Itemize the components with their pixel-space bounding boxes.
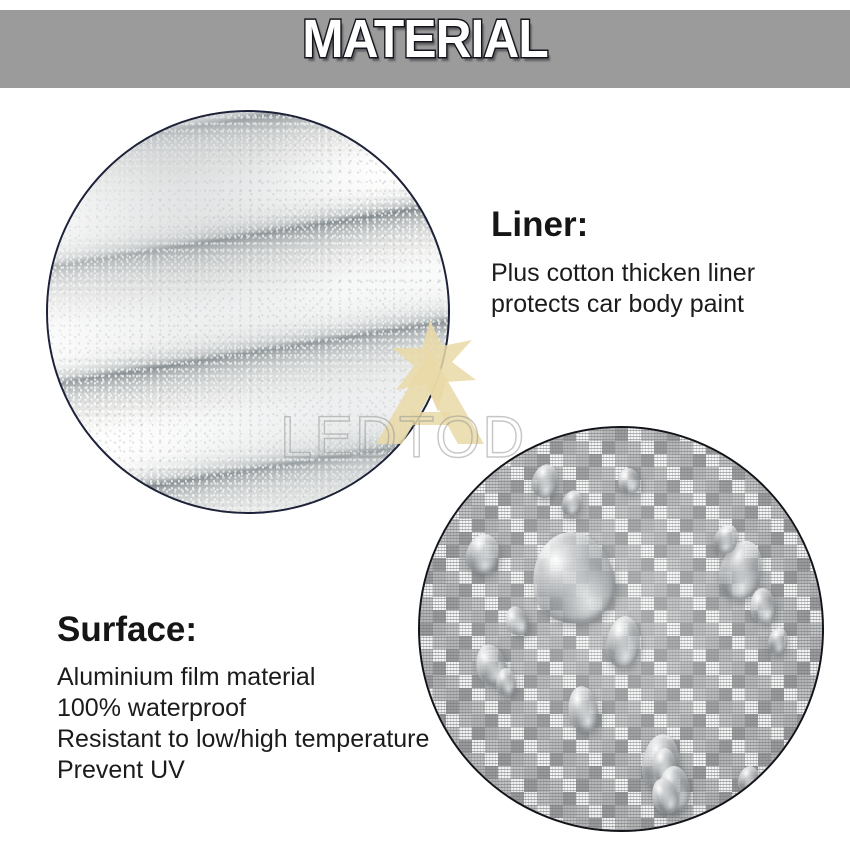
- surface-heading: Surface:: [57, 608, 429, 652]
- liner-line: Plus cotton thicken liner: [491, 258, 755, 289]
- page-title: MATERIAL: [34, 9, 816, 69]
- liner-text-block: Liner: Plus cotton thicken liner protect…: [491, 204, 755, 320]
- surface-body: Aluminium film material 100% waterproof …: [57, 662, 429, 786]
- liner-heading: Liner:: [491, 204, 755, 246]
- surface-line: Prevent UV: [57, 755, 429, 786]
- liner-line: protects car body paint: [491, 289, 755, 320]
- surface-line: Aluminium film material: [57, 662, 429, 693]
- liner-photo-sheen: [48, 112, 448, 512]
- surface-line: 100% waterproof: [57, 693, 429, 724]
- liner-photo: [46, 110, 450, 514]
- surface-text-block: Surface: Aluminium film material 100% wa…: [57, 608, 429, 786]
- surface-line: Resistant to low/high temperature: [57, 724, 429, 755]
- liner-body: Plus cotton thicken liner protects car b…: [491, 258, 755, 320]
- surface-photo: [418, 426, 824, 832]
